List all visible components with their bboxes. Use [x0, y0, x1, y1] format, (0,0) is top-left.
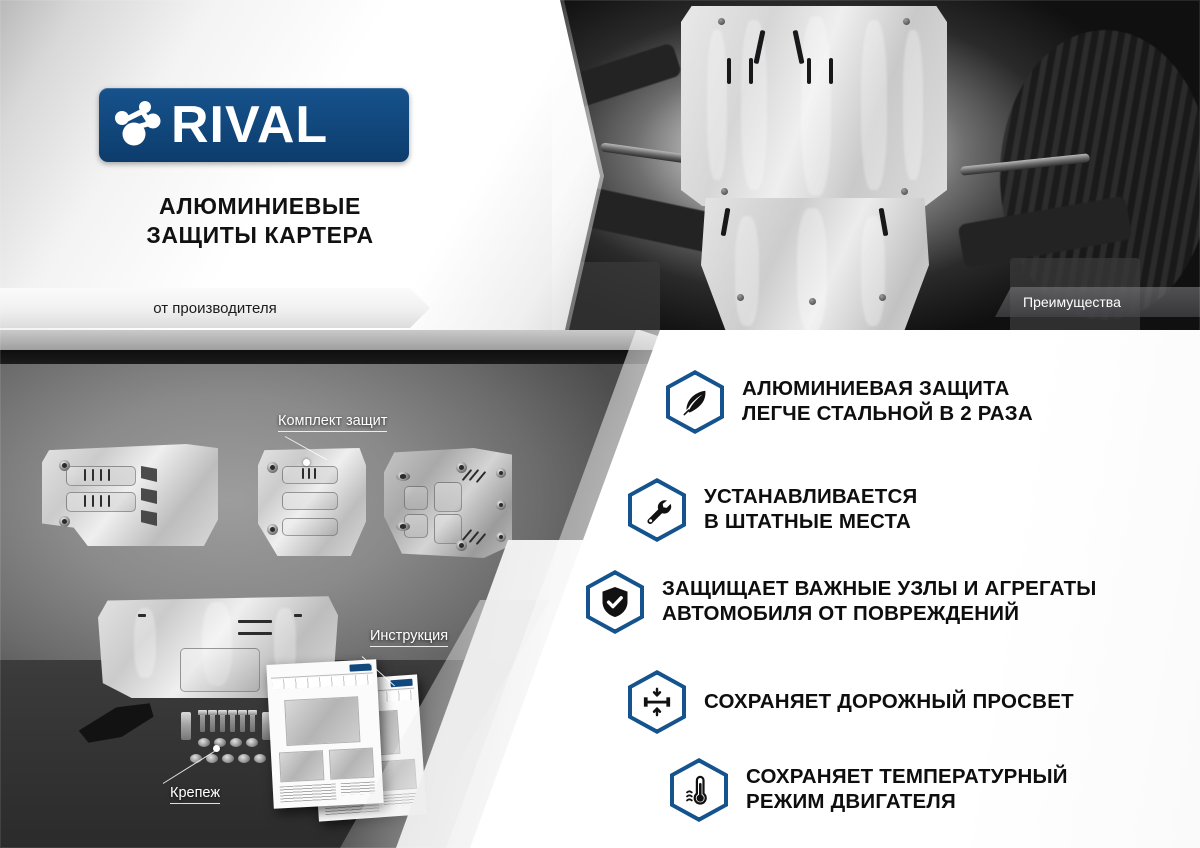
feature-5-line2: РЕЖИМ ДВИГАТЕЛЯ — [746, 790, 1068, 815]
wrench-icon — [628, 478, 686, 542]
thermometer-icon — [670, 758, 728, 822]
skid-plate-left — [42, 444, 218, 546]
feature-item-5: СОХРАНЯЕТ ТЕМПЕРАТУРНЫЙ РЕЖИМ ДВИГАТЕЛЯ — [670, 758, 1068, 822]
molecule-icon — [109, 94, 173, 156]
rival-logo: RIVAL — [99, 88, 409, 162]
feature-item-3: ЗАЩИЩАЕТ ВАЖНЫЕ УЗЛЫ И АГРЕГАТЫ АВТОМОБИ… — [586, 570, 1097, 634]
feature-3-line2: АВТОМОБИЛЯ ОТ ПОВРЕЖДЕНИЙ — [662, 602, 1097, 627]
advantages-tag: Преимущества — [995, 287, 1200, 317]
instruction-sheet-front — [266, 659, 383, 809]
feather-icon — [666, 370, 724, 434]
feature-item-1: АЛЮМИНИЕВАЯ ЗАЩИТА ЛЕГЧЕ СТАЛЬНОЙ В 2 РА… — [666, 370, 1033, 434]
callout-kit-label: Комплект защит — [278, 413, 387, 432]
feature-text-2: УСТАНАВЛИВАЕТСЯ В ШТАТНЫЕ МЕСТА — [704, 485, 917, 534]
ground-clearance-icon — [628, 670, 686, 734]
shield-check-icon — [586, 570, 644, 634]
callout-hardware: Крепеж — [170, 785, 220, 804]
advantages-tag-label: Преимущества — [1023, 294, 1121, 310]
callout-kit: Комплект защит — [278, 413, 387, 432]
subtitle-text: от производителя — [153, 300, 276, 317]
divider-strip — [0, 348, 700, 364]
callout-kit-dot — [303, 459, 310, 466]
feature-item-4: СОХРАНЯЕТ ДОРОЖНЫЙ ПРОСВЕТ — [628, 670, 1074, 734]
callout-manual: Инструкция — [370, 628, 448, 647]
feature-text-1: АЛЮМИНИЕВАЯ ЗАЩИТА ЛЕГЧЕ СТАЛЬНОЙ В 2 РА… — [742, 377, 1033, 426]
page-title-line2: ЗАЩИТЫ КАРТЕРА — [0, 221, 520, 250]
page-title-line1: АЛЮМИНИЕВЫЕ — [0, 192, 520, 221]
callout-hardware-label: Крепеж — [170, 785, 220, 804]
feature-text-4: СОХРАНЯЕТ ДОРОЖНЫЙ ПРОСВЕТ — [704, 690, 1074, 715]
feature-1-line1: АЛЮМИНИЕВАЯ ЗАЩИТА — [742, 377, 1033, 402]
promo-banner: Преимущества RIVAL АЛЮМИНИЕВЫЕ ЗАЩИТЫ КА — [0, 0, 1200, 848]
callout-hardware-dot — [213, 745, 220, 752]
feature-3-line1: ЗАЩИЩАЕТ ВАЖНЫЕ УЗЛЫ И АГРЕГАТЫ — [662, 577, 1097, 602]
feature-2-line1: УСТАНАВЛИВАЕТСЯ — [704, 485, 917, 510]
rival-wordmark: RIVAL — [171, 99, 328, 151]
callout-manual-label: Инструкция — [370, 628, 448, 647]
feature-item-2: УСТАНАВЛИВАЕТСЯ В ШТАТНЫЕ МЕСТА — [628, 478, 917, 542]
skid-plate-upper — [681, 6, 947, 206]
feature-5-line1: СОХРАНЯЕТ ТЕМПЕРАТУРНЫЙ — [746, 765, 1068, 790]
feature-text-5: СОХРАНЯЕТ ТЕМПЕРАТУРНЫЙ РЕЖИМ ДВИГАТЕЛЯ — [746, 765, 1068, 814]
feature-1-line2: ЛЕГЧЕ СТАЛЬНОЙ В 2 РАЗА — [742, 402, 1033, 427]
feature-2-line2: В ШТАТНЫЕ МЕСТА — [704, 510, 917, 535]
feature-4-line1: СОХРАНЯЕТ ДОРОЖНЫЙ ПРОСВЕТ — [704, 690, 1074, 715]
feature-text-3: ЗАЩИЩАЕТ ВАЖНЫЕ УЗЛЫ И АГРЕГАТЫ АВТОМОБИ… — [662, 577, 1097, 626]
page-title: АЛЮМИНИЕВЫЕ ЗАЩИТЫ КАРТЕРА — [0, 192, 520, 251]
divider-band — [0, 330, 700, 350]
skid-plate-lower — [701, 198, 929, 350]
subtitle-band: от производителя — [0, 288, 430, 328]
skid-plate-center — [258, 448, 366, 556]
skid-plate-right — [384, 448, 512, 558]
